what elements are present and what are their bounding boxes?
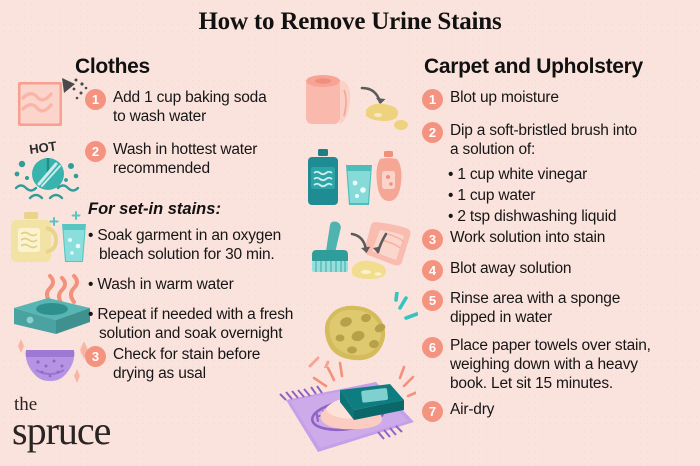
step-text: Add 1 cup baking soda to wash water (113, 88, 275, 126)
book-on-mat-icon: HELLO (256, 360, 416, 460)
sponge-icon (300, 292, 418, 368)
step-text: Dip a soft-bristled brush into a solutio… (450, 121, 644, 159)
step-carpet-4: 4 Blot away solution (422, 259, 652, 281)
step-badge: 2 (85, 141, 106, 162)
svg-text:HOT: HOT (28, 140, 57, 157)
column-heading-carpet: Carpet and Upholstery (424, 55, 643, 79)
step-text: Blot up moisture (450, 88, 559, 107)
hot-water-icon: HOT (8, 140, 92, 208)
bullet-item: • 2 tsp dishwashing liquid (448, 206, 678, 227)
step-carpet-2: 2 Dip a soft-bristled brush into a solut… (422, 121, 644, 159)
step-text: Wash in hottest water recommended (113, 140, 280, 178)
step-text: Work solution into stain (450, 228, 605, 247)
solution-bullets: • 1 cup white vinegar • 1 cup water • 2 … (448, 164, 678, 227)
soaking-basin-icon (8, 272, 96, 336)
step-carpet-3: 3 Work solution into stain (422, 228, 652, 250)
step-badge: 3 (85, 346, 106, 367)
bullet-item: • 1 cup water (448, 185, 678, 206)
step-badge: 7 (422, 401, 443, 422)
step-clothes-2: 2 Wash in hottest water recommended (85, 140, 280, 178)
brand-line-spruce: spruce (12, 413, 110, 449)
set-in-stains-bullets: • Soak garment in an oxygen bleach solut… (88, 226, 303, 354)
page-title: How to Remove Urine Stains (0, 8, 700, 36)
step-clothes-3: 3 Check for stain before drying as usal (85, 345, 275, 383)
step-badge: 1 (85, 89, 106, 110)
step-carpet-5: 5 Rinse area with a sponge dipped in wat… (422, 289, 647, 327)
step-badge: 4 (422, 260, 443, 281)
step-text: Blot away solution (450, 259, 571, 278)
paper-towel-roll-icon (300, 70, 412, 142)
detergent-and-glass-icon (8, 208, 94, 272)
step-badge: 2 (422, 122, 443, 143)
step-badge: 1 (422, 89, 443, 110)
step-text: Place paper towels over stain, weighing … (450, 336, 657, 393)
step-carpet-7: 7 Air-dry (422, 400, 622, 422)
step-text: Rinse area with a sponge dipped in water (450, 289, 647, 327)
step-carpet-1: 1 Blot up moisture (422, 88, 652, 110)
set-in-stains-heading: For set-in stains: (88, 200, 221, 219)
baking-soda-shaker-icon (14, 76, 90, 134)
step-badge: 5 (422, 290, 443, 311)
step-badge: 3 (422, 229, 443, 250)
bullet-item: • Soak garment in an oxygen bleach solut… (88, 226, 303, 264)
step-clothes-1: 1 Add 1 cup baking soda to wash water (85, 88, 275, 126)
step-text: Air-dry (450, 400, 494, 419)
bullet-item: • Wash in warm water (88, 275, 303, 294)
step-text: Check for stain before drying as usal (113, 345, 275, 383)
scrub-brush-icon (300, 218, 418, 300)
brand-logo: the spruce (12, 396, 110, 449)
step-carpet-6: 6 Place paper towels over stain, weighin… (422, 336, 657, 393)
step-badge: 6 (422, 337, 443, 358)
bullet-item: • 1 cup white vinegar (448, 164, 678, 185)
bullet-item: • Repeat if needed with a fresh solution… (88, 305, 303, 343)
bottles-icon (302, 147, 412, 213)
